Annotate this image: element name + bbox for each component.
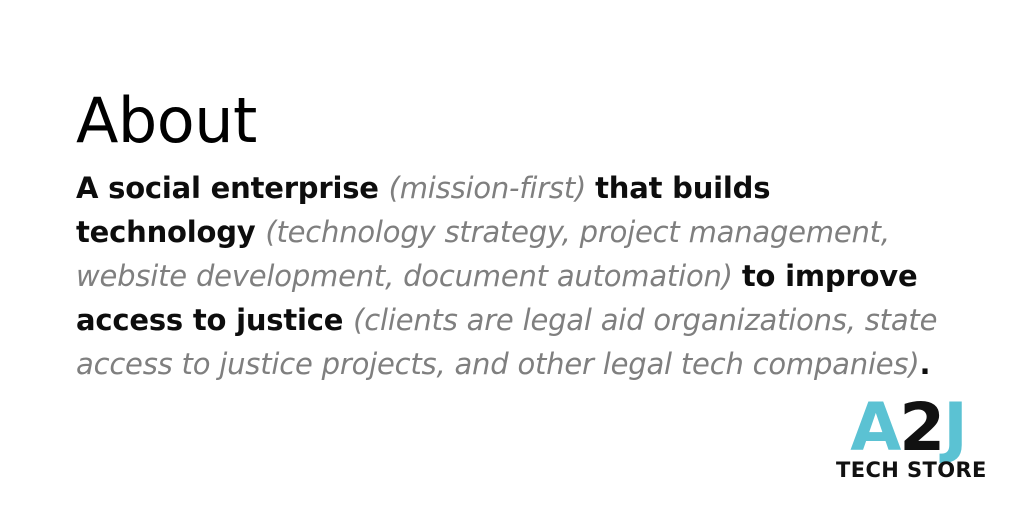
page-title: About [76,88,257,153]
logo-letter-a: A [850,389,899,466]
body-segment-bold-1: A social enterprise [76,171,389,205]
a2j-tech-store-logo: A2J TECH STORE [836,398,980,480]
logo-tagline: TECH STORE [836,459,980,481]
logo-letter-j: J [943,389,966,466]
about-body-block: A social enterprise (mission-first) that… [76,166,956,386]
logo-wordmark: A2J [836,398,980,458]
about-paragraph: A social enterprise (mission-first) that… [76,166,956,386]
slide-canvas: About A social enterprise (mission-first… [0,0,1024,512]
logo-digit-2: 2 [899,389,943,466]
body-segment-period: . [919,347,930,381]
body-segment-italic-1: (mission-first) [389,171,595,205]
